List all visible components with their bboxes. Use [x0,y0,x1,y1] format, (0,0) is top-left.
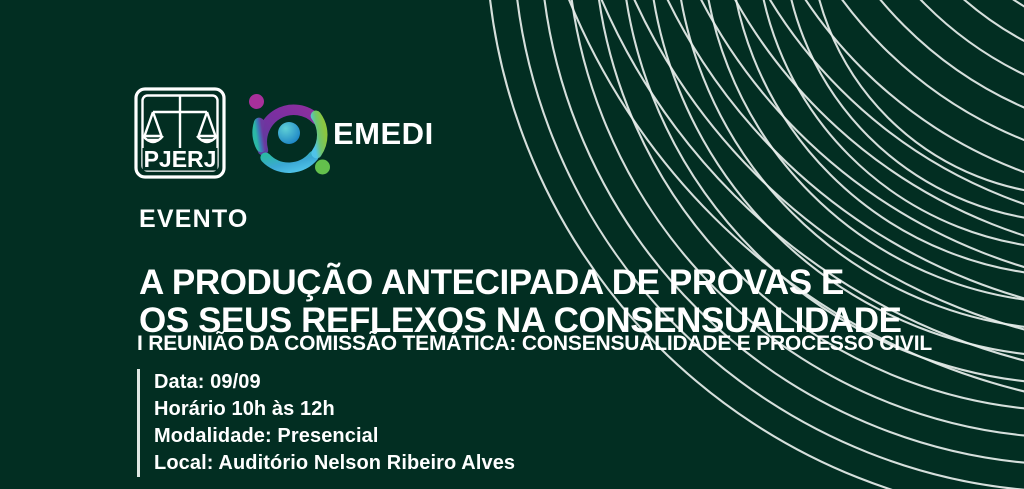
emedi-center-dot [278,122,300,144]
detail-modality: Modalidade: Presencial [154,423,515,450]
scales-of-justice-icon [143,96,217,148]
detail-date: Data: 09/09 [154,369,515,396]
emedi-ring-icon [243,87,335,179]
event-title-line-1: A PRODUÇÃO ANTECIPADA DE PROVAS E [139,264,902,302]
emedi-logo: EMEDI [243,87,434,179]
detail-location: Local: Auditório Nelson Ribeiro Alves [154,450,515,477]
event-banner: PJERJ [0,0,1024,489]
logo-row: PJERJ [133,86,434,180]
pjerj-logo: PJERJ [133,86,227,180]
event-subtitle: I REUNIÃO DA COMISSÃO TEMÁTICA: CONSENSU… [137,333,932,354]
emedi-satellite-dot-bottom [315,160,330,175]
detail-time: Horário 10h às 12h [154,396,515,423]
event-details-block: Data: 09/09 Horário 10h às 12h Modalidad… [137,369,515,477]
emedi-satellite-dot-top [249,94,264,109]
event-eyebrow-label: EVENTO [139,207,249,232]
emedi-wordmark: EMEDI [333,118,434,149]
event-title: A PRODUÇÃO ANTECIPADA DE PROVAS E OS SEU… [139,264,902,340]
pjerj-wordmark: PJERJ [144,146,217,172]
